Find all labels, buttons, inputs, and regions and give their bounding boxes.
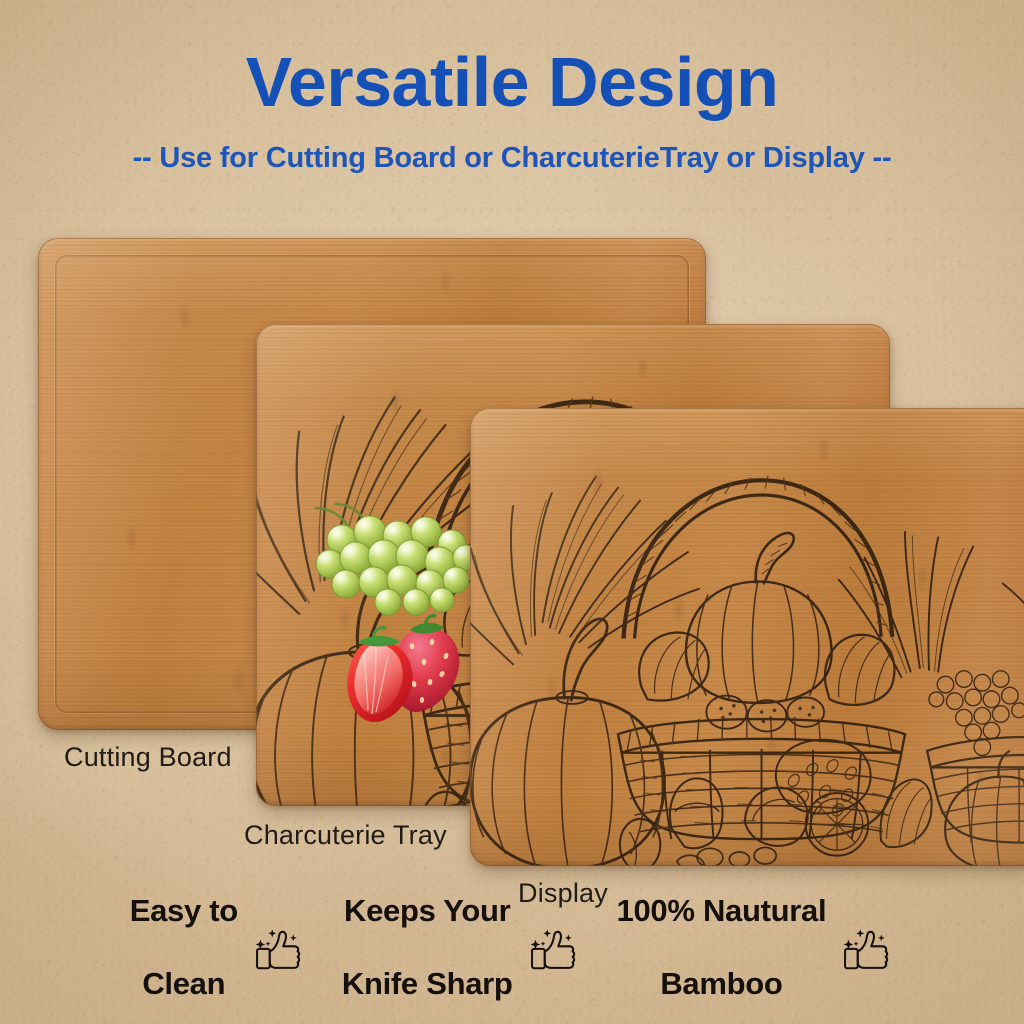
page-title: Versatile Design (0, 46, 1024, 119)
feature-knife-sharp-line1: Keeps Your (342, 893, 513, 930)
feature-row: Easy to Clean (0, 894, 1024, 1002)
board3-edge (470, 408, 1024, 866)
feature-natural-bamboo-line1: 100% Nautural (617, 893, 827, 930)
thumbs-up-sparkle-icon (252, 921, 306, 975)
feature-knife-sharp: Keeps Your Knife Sharp (324, 857, 599, 1024)
page-subtitle: -- Use for Cutting Board or CharcuterieT… (0, 142, 1024, 175)
feature-knife-sharp-line2: Knife Sharp (342, 966, 513, 1003)
feature-easy-to-clean-label: Easy to Clean (130, 857, 238, 1024)
thumbs-up-sparkle-icon (527, 921, 581, 975)
feature-easy-to-clean-line2: Clean (130, 966, 238, 1003)
caption-charcuterie-tray: Charcuterie Tray (244, 820, 447, 851)
feature-natural-bamboo: 100% Nautural Bamboo (599, 857, 913, 1024)
product-marketing-image: Versatile Design -- Use for Cutting Boar… (0, 0, 1024, 1024)
feature-easy-to-clean: Easy to Clean (112, 857, 324, 1024)
feature-easy-to-clean-line1: Easy to (130, 893, 238, 930)
green-grapes-garnish (300, 500, 490, 620)
cutting-board-display[interactable] (470, 408, 1024, 866)
feature-natural-bamboo-line2: Bamboo (617, 966, 827, 1003)
strawberry-garnish (340, 612, 470, 722)
thumbs-up-sparkle-icon (840, 921, 894, 975)
feature-natural-bamboo-label: 100% Nautural Bamboo (617, 857, 827, 1024)
feature-knife-sharp-label: Keeps Your Knife Sharp (342, 857, 513, 1024)
caption-cutting-board: Cutting Board (64, 742, 232, 773)
